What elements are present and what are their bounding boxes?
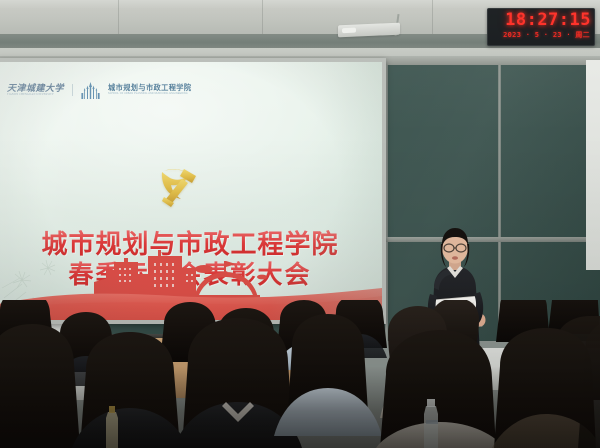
ceiling-strip xyxy=(0,0,600,8)
slide-logo-row: 天津城建大学 TIANJIN CHENGJIAN UNIVERSITY xyxy=(7,81,191,99)
school-name: 城市规划与市政工程学院 xyxy=(108,83,191,92)
seated-audience xyxy=(0,300,600,448)
school-name-sub: SCHOOL OF URBAN PLANNING AND MUNICIPAL E… xyxy=(108,92,191,96)
clock-date: 2023 · 5 · 23 · 周二 xyxy=(488,31,590,39)
led-wall-clock: 18:27:15 2023 · 5 · 23 · 周二 xyxy=(487,8,595,46)
university-logo: 天津城建大学 TIANJIN CHENGJIAN UNIVERSITY xyxy=(7,84,64,97)
lecture-hall-photo: 18:27:15 2023 · 5 · 23 · 周二 天津城建大学 TIANJ… xyxy=(0,0,600,448)
university-name: 天津城建大学 xyxy=(7,83,64,93)
logo-divider xyxy=(72,84,73,96)
university-name-sub: TIANJIN CHENGJIAN UNIVERSITY xyxy=(7,93,64,97)
school-logo: 城市规划与市政工程学院 SCHOOL OF URBAN PLANNING AND… xyxy=(108,84,191,96)
projector-screen-frame: 天津城建大学 TIANJIN CHENGJIAN UNIVERSITY xyxy=(0,58,386,324)
side-whiteboard xyxy=(586,60,600,270)
party-emblem-icon xyxy=(154,163,204,209)
city-skyline-icon xyxy=(81,82,100,99)
projector-screen: 天津城建大学 TIANJIN CHENGJIAN UNIVERSITY xyxy=(0,62,382,320)
clock-time: 18:27:15 xyxy=(488,12,591,29)
